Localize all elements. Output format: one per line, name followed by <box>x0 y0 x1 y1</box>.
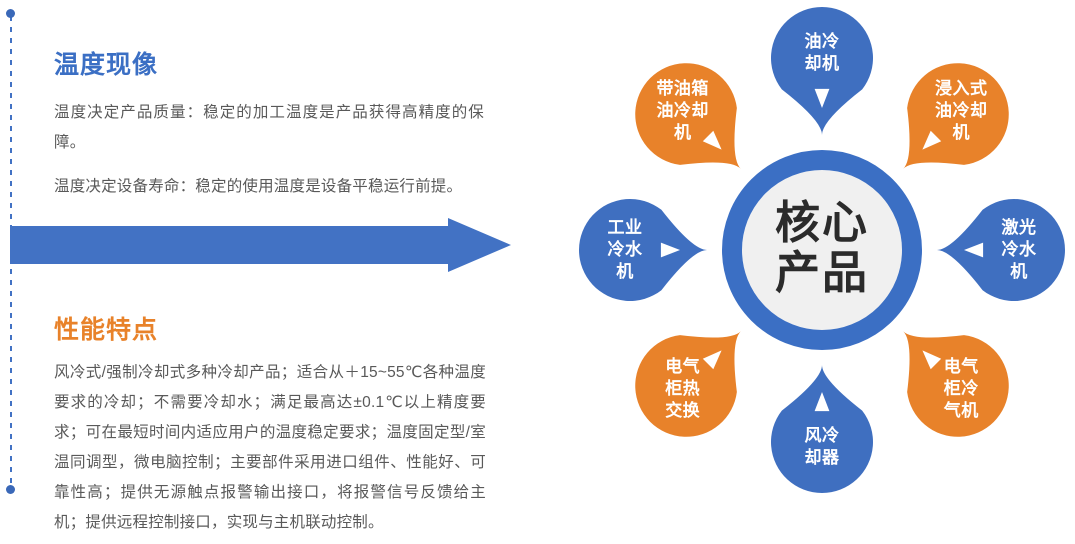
temperature-paragraph-2: 温度决定设备寿命：稳定的使用温度是设备平稳运行前提。 <box>54 172 504 202</box>
core-label: 核心 产品 <box>732 198 912 298</box>
right-arrow-icon <box>8 216 513 274</box>
product-node-top[interactable] <box>771 7 873 135</box>
product-node-bottom-left[interactable] <box>635 331 740 436</box>
product-node-shape <box>635 331 740 436</box>
performance-paragraph: 风冷式/强制冷却式多种冷却产品；适合从＋15~55℃各种温度要求的冷却；不需要冷… <box>54 358 486 538</box>
product-node-shape <box>771 365 873 493</box>
product-node-shape <box>903 63 1008 168</box>
product-node-top-right[interactable] <box>903 63 1008 168</box>
left-content-panel: 温度现像 温度决定产品质量：稳定的加工温度是产品获得高精度的保障。 温度决定设备… <box>0 0 545 544</box>
core-products-diagram: 核心 产品 油冷 却机浸入式 油冷却 机激光 冷水 机电气 柜冷 气机风冷 却器… <box>545 0 1075 544</box>
temperature-section-heading: 温度现像 <box>54 45 158 81</box>
product-node-shape <box>771 7 873 135</box>
product-node-shape <box>937 199 1065 301</box>
slide-canvas: 温度现像 温度决定产品质量：稳定的加工温度是产品获得高精度的保障。 温度决定设备… <box>0 0 1075 544</box>
product-node-shape <box>635 63 740 168</box>
performance-section-heading: 性能特点 <box>54 310 158 346</box>
product-node-bottom-right[interactable] <box>903 331 1008 436</box>
temperature-paragraph-1: 温度决定产品质量：稳定的加工温度是产品获得高精度的保障。 <box>54 98 484 158</box>
product-node-shape <box>903 331 1008 436</box>
product-node-left[interactable] <box>579 199 707 301</box>
product-node-top-left[interactable] <box>635 63 740 168</box>
rail-dot-top <box>6 9 15 18</box>
product-node-bottom[interactable] <box>771 365 873 493</box>
rail-dot-bottom <box>6 485 15 494</box>
product-node-right[interactable] <box>937 199 1065 301</box>
product-node-shape <box>579 199 707 301</box>
